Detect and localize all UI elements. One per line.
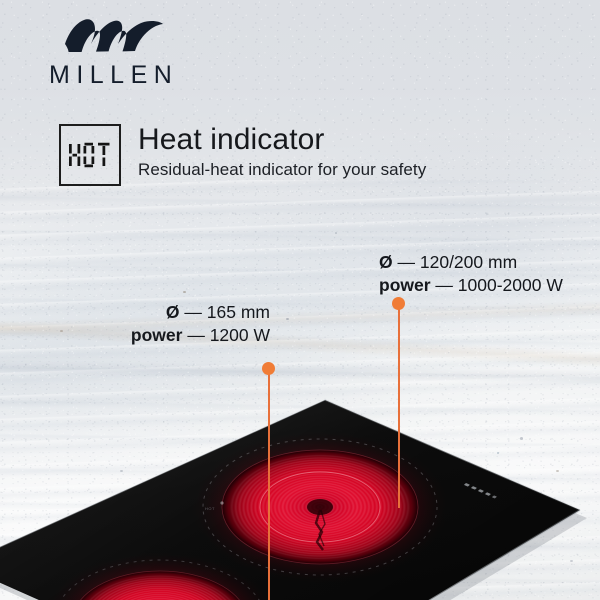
callout-rear-diameter-value: 120/200 mm [420, 252, 517, 272]
callout-rear-power-dash: — [435, 275, 453, 295]
callout-front-power-label: power [131, 325, 183, 345]
feature-subtitle: Residual-heat indicator for your safety [138, 160, 426, 180]
feature-text: Heat indicator Residual-heat indicator f… [138, 122, 426, 180]
callout-rear-power: power — 1000-2000 W [379, 274, 563, 297]
callout-rear-power-value: 1000-2000 W [458, 275, 563, 295]
callout-front-power-dash: — [187, 325, 205, 345]
callout-front-zone: Ø — 165 mm power — 1200 W [131, 301, 270, 348]
leader-line-rear-zone [398, 303, 400, 508]
callout-front-diameter-label: Ø [166, 302, 180, 322]
callout-rear-zone: Ø — 120/200 mm power — 1000-2000 W [379, 251, 563, 298]
brand-lockup: MILLEN [48, 14, 198, 88]
promo-graphic: HOT MILLEN [0, 0, 600, 600]
leader-dot-rear-zone [392, 297, 405, 310]
callout-rear-diameter: Ø — 120/200 mm [379, 251, 563, 274]
millen-brush-m-icon [62, 14, 166, 58]
callout-rear-diameter-dash: — [398, 252, 416, 272]
callout-front-diameter-value: 165 mm [207, 302, 270, 322]
callout-front-diameter-dash: — [184, 302, 202, 322]
callout-rear-power-label: power [379, 275, 431, 295]
callout-front-diameter: Ø — 165 mm [131, 301, 270, 324]
hot-indicator-badge [59, 124, 121, 186]
brand-wordmark: MILLEN [48, 63, 198, 88]
callout-front-power: power — 1200 W [131, 324, 270, 347]
callout-front-power-value: 1200 W [210, 325, 270, 345]
callout-rear-diameter-label: Ø [379, 252, 393, 272]
leader-line-front-zone [268, 368, 270, 600]
feature-title: Heat indicator [138, 123, 426, 157]
leader-dot-front-zone [262, 362, 275, 375]
hot-seven-segment-icon [68, 142, 112, 168]
annotation-overlay: Ø — 120/200 mm power — 1000-2000 W Ø — 1… [0, 0, 600, 600]
feature-block: Heat indicator Residual-heat indicator f… [59, 122, 426, 186]
